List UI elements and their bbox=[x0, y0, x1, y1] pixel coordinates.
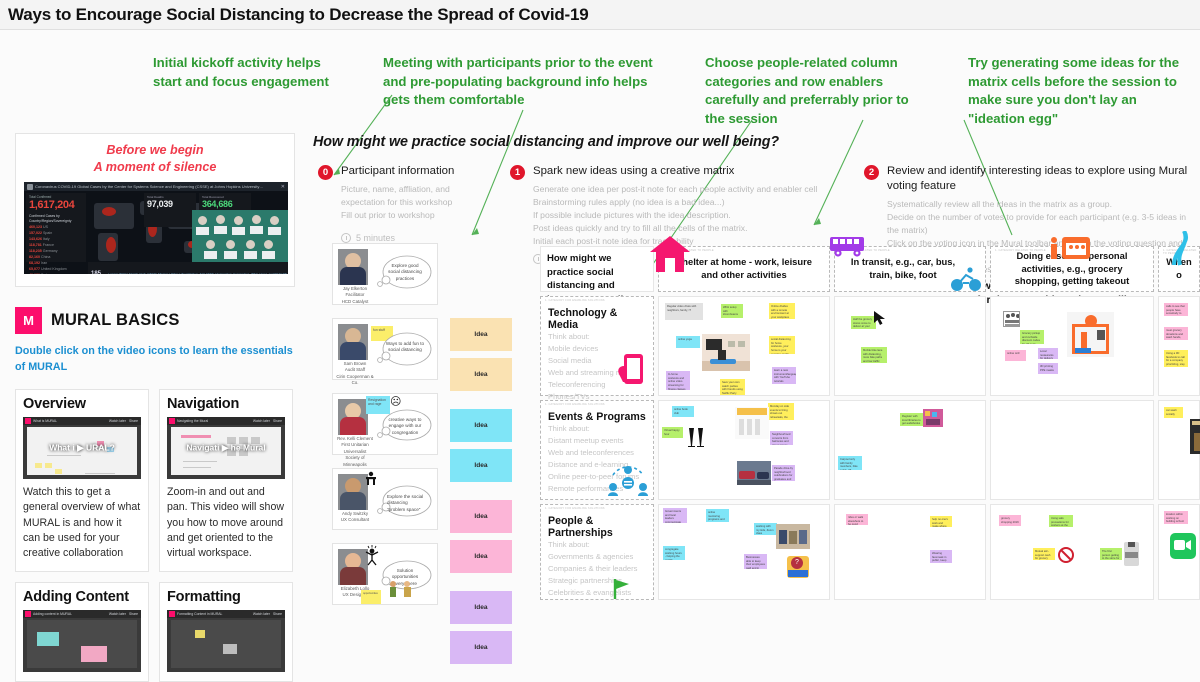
matrix-tiny-label: 1. CATEGORY FOR ENABLING SOLUTIONS bbox=[545, 403, 605, 406]
country-count: 143,626 bbox=[29, 237, 42, 241]
step-badge: 2 bbox=[864, 165, 879, 180]
dashboard-window-bar: Coronavirus COVID-19 Global Cases by the… bbox=[24, 182, 288, 191]
matrix-cell-0-2[interactable]: Grocery pickup and curbside discount cod… bbox=[990, 296, 1154, 396]
sticky-note[interactable]: Parade drive-by neighborhood celebration… bbox=[772, 465, 795, 481]
video-thumb-bar: What is MURAL Watch laterShare bbox=[23, 417, 141, 425]
country-count: 118,235 bbox=[29, 249, 42, 253]
ribbon-icon bbox=[1170, 231, 1200, 267]
country-count: 82,160 bbox=[29, 255, 40, 259]
creative-matrix: How might we practice social distancing … bbox=[540, 246, 1200, 600]
sticky-note[interactable]: online ordr bbox=[1005, 350, 1026, 361]
dashboard-footer: 185 Lancet: WHO | Florida | Italy | Midd… bbox=[88, 262, 288, 274]
video-card-title: Navigation bbox=[167, 396, 285, 412]
matrix-cell-2-3[interactable]: location within working on building scho… bbox=[1158, 504, 1200, 600]
mural-basics-subtitle: Double click on the video icons to learn… bbox=[15, 344, 295, 375]
matrix-row-header-0: 1. CATEGORY FOR ENABLING SOLUTIONS Techn… bbox=[540, 296, 654, 396]
sticky-note[interactable]: Using a 3D facebook to call for a compan… bbox=[1164, 350, 1188, 367]
country-name: China bbox=[41, 255, 50, 259]
mural-logo-icon bbox=[25, 418, 31, 424]
sticky-note[interactable]: Governments and local leaders communicat… bbox=[663, 508, 687, 523]
facetime-video-call-icon[interactable] bbox=[1170, 533, 1196, 559]
video-thumbnail[interactable]: Navigating the Mural Watch laterShare bbox=[167, 417, 285, 479]
share-label[interactable]: Share bbox=[129, 612, 138, 616]
sticky-note[interactable]: Using safe precautions for workers at th… bbox=[1049, 515, 1073, 527]
participant-org: Cirin Cooperman & Co. bbox=[335, 374, 375, 387]
store-icon bbox=[1046, 233, 1098, 263]
sticky-note[interactable]: online book club bbox=[672, 406, 694, 417]
sticky-note[interactable]: social distancing for home workouts, you… bbox=[769, 336, 795, 354]
community-sketch[interactable] bbox=[1003, 311, 1020, 327]
cursor-icon bbox=[873, 310, 887, 326]
video-thumb-canvas bbox=[171, 620, 281, 668]
case-counter: 185 bbox=[88, 271, 101, 274]
sticky-note[interactable]: online mentoring programs and tutoring, … bbox=[706, 509, 729, 522]
video-card-title: Overview bbox=[23, 396, 141, 412]
champagne-toast-icon bbox=[687, 426, 705, 448]
participant-card[interactable]: Andy Switzky UX Consultant Explore the s… bbox=[332, 468, 438, 530]
matrix-cell-1-0[interactable]: online book club Virtual happy hour Mond… bbox=[658, 400, 830, 500]
sticky-note[interactable]: working with my kids, Zoom class bbox=[754, 523, 777, 535]
video-thumbnail[interactable]: Formatting Content in MURAL Watch laterS… bbox=[167, 610, 285, 672]
matrix-row-think-label: Think about: bbox=[548, 423, 646, 435]
video-thumb-title: Adding content in MURAL bbox=[33, 612, 72, 616]
participant-photo bbox=[338, 399, 368, 435]
block-party-photo[interactable] bbox=[923, 409, 943, 427]
annotation-callout-1: Initial kickoff activity helps start and… bbox=[153, 54, 383, 91]
sticky-note[interactable]: Monday on side events to bring shows out… bbox=[768, 403, 794, 420]
idea-sticky[interactable]: Idea bbox=[450, 591, 512, 624]
participant-identity: Andy Switzky UX Consultant bbox=[335, 511, 375, 524]
country-name: France bbox=[43, 243, 54, 247]
step-heading: Review and identify interesting ideas to… bbox=[887, 164, 1200, 194]
accessibility-person-icon bbox=[364, 471, 378, 487]
matrix-row-title: Events & Programs bbox=[548, 411, 646, 423]
close-icon[interactable]: ✕ bbox=[281, 184, 288, 190]
video-thumb-bar: Navigating the Mural Watch laterShare bbox=[167, 417, 285, 425]
participant-card-list: Jay Elkerton Facilitator HCD Catalyst Ex… bbox=[332, 243, 438, 618]
sticky-note[interactable]: Carpool only with family members, bike s… bbox=[838, 456, 862, 470]
matrix-row-think-label: Think about: bbox=[548, 331, 646, 343]
matrix-row-think-label: Think about: bbox=[548, 539, 646, 551]
video-overlay-title: Navigati ▶ he Mural bbox=[167, 442, 285, 453]
mural-basics-title: MURAL BASICS bbox=[51, 311, 180, 330]
sticky-note[interactable]: Local restaurants for delivery only bbox=[1038, 348, 1058, 359]
country-name: Spain bbox=[43, 231, 52, 235]
video-thumb-title: What is MURAL bbox=[33, 419, 57, 423]
step-detail: Picture, name, affliation, and expectati… bbox=[341, 183, 498, 222]
sticky-note[interactable]: Virtual happy hour bbox=[662, 427, 683, 438]
country-name: US bbox=[43, 225, 48, 229]
silence-line-1: Before we begin bbox=[24, 142, 286, 159]
dashboard-footer-text: Lancet: WHO | Florida | Italy | Middle M… bbox=[88, 272, 287, 274]
video-thumbnail[interactable]: What is MURAL Watch laterShare What i ▶ bbox=[23, 417, 141, 479]
participant-identity: Jay Elkerton Facilitator HCD Catalyst bbox=[335, 286, 375, 305]
sticky-note[interactable]: help no one's work and make where can th… bbox=[930, 516, 952, 527]
share-label[interactable]: Share bbox=[273, 419, 282, 423]
video-card-overview[interactable]: Overview What is MURAL Watch laterShare bbox=[15, 389, 149, 572]
total-confirmed-value: 1,617,204 bbox=[26, 199, 86, 211]
matrix-cell-2-2[interactable]: grocery shopping 2019 Using safe precaut… bbox=[990, 504, 1154, 600]
matrix-tiny-label: 1. CATEGORY RELATED TO PEOPLE bbox=[995, 249, 1046, 252]
country-name: Iran bbox=[41, 261, 47, 265]
mural-basics-section: M MURAL BASICS Double click on the video… bbox=[15, 307, 295, 681]
sticky-note[interactable]: grocery shopping 2019 bbox=[999, 515, 1021, 526]
thought-text: Explore the social distancing "problem s… bbox=[387, 494, 427, 513]
matrix-row-title: Technology & Media bbox=[548, 307, 646, 331]
total-deaths-stat: Total Deaths 97,039 bbox=[144, 193, 196, 227]
house-icon bbox=[648, 234, 692, 274]
matrix-row-title: People & Partnerships bbox=[548, 515, 646, 539]
moment-of-silence-panel: Before we begin A moment of silence Coro… bbox=[15, 133, 295, 287]
sticky-note[interactable]: rides or walk elsewhere to be good bbox=[846, 514, 868, 525]
participant-card[interactable]: Elizabeth Lollo UX Designer opportunitie… bbox=[332, 543, 438, 605]
country-count: 65,077 bbox=[29, 267, 40, 271]
idea-sticky[interactable]: Idea bbox=[450, 449, 512, 482]
watch-later-label[interactable]: Watch later bbox=[109, 612, 126, 616]
step-heading: Spark new ideas using a creative matrix bbox=[533, 164, 860, 179]
total-recovered-value: 364,686 bbox=[199, 199, 251, 209]
clock-icon bbox=[341, 233, 351, 243]
left-sidebar: Before we begin A moment of silence Coro… bbox=[15, 133, 295, 682]
country-list-header: Confirmed Cases by Country/Region/Sovere… bbox=[26, 211, 86, 225]
matrix-row-header-1: 1. CATEGORY FOR ENABLING SOLUTIONS Event… bbox=[540, 400, 654, 500]
matrix-cell-0-3[interactable]: calls to see that people have somebody t… bbox=[1158, 296, 1200, 396]
video-card-title: Formatting bbox=[167, 589, 285, 605]
sticky-note[interactable]: car wash socially bbox=[1164, 407, 1183, 418]
participant-role: First Unitarian Universalist bbox=[335, 442, 375, 455]
video-thumb-title: Formatting Content in MURAL bbox=[177, 612, 222, 616]
sticky-note[interactable]: The first person getting to the store fo… bbox=[1100, 548, 1122, 560]
video-card-body: Watch this to get a general overview of … bbox=[23, 485, 141, 562]
page-title: Ways to Encourage Social Distancing to D… bbox=[0, 5, 589, 25]
thought-bubble: Explore the social distancing "problem s… bbox=[377, 475, 433, 523]
sticky-note[interactable]: Register with local libraries to get aud… bbox=[900, 413, 924, 426]
country-count: 42,282 bbox=[29, 273, 40, 274]
country-row: 42,282 Turkey bbox=[26, 273, 86, 274]
dashboard-left-panel: Total Confirmed 1,617,204 Confirmed Case… bbox=[26, 193, 86, 262]
participant-photo bbox=[338, 324, 368, 360]
country-name: Turkey bbox=[41, 273, 52, 274]
sticky-note[interactable]: Neighbourhood concerts from balconies an… bbox=[770, 431, 793, 445]
idea-sticky[interactable]: Idea bbox=[450, 318, 512, 351]
gladiator-movie-poster[interactable] bbox=[1190, 419, 1200, 454]
sticky-note[interactable]: In-home workouts and online video stream… bbox=[666, 371, 690, 390]
video-card-grid: Overview What is MURAL Watch laterShare bbox=[15, 389, 295, 682]
annotation-callout-3: Choose people-related column categories … bbox=[705, 54, 950, 129]
video-thumb-canvas bbox=[27, 620, 137, 668]
step-badge: 1 bbox=[510, 165, 525, 180]
idea-sticky[interactable]: Idea bbox=[450, 358, 512, 391]
participant-identity: Rev. Kelli Clement First Unitarian Unive… bbox=[335, 436, 375, 468]
sticky-note[interactable]: Wearing facemask in public, keep washing… bbox=[930, 550, 952, 563]
sticky-note[interactable]: WFH setup with Zoom/teams bbox=[721, 304, 743, 318]
video-card-navigation[interactable]: Navigation Navigating the Mural Watch la… bbox=[159, 389, 293, 572]
sticky-note[interactable]: congregate working hours - helping the m… bbox=[663, 546, 685, 560]
flag-icon bbox=[605, 577, 633, 600]
sticky-note[interactable]: Regular video chats with neighbors, fami… bbox=[665, 303, 703, 320]
window-titlebar: Ways to Encourage Social Distancing to D… bbox=[0, 0, 1200, 30]
participant-org: HCD Catalyst bbox=[335, 299, 375, 305]
no-contact-stamp-icon bbox=[1058, 547, 1074, 563]
country-count: 460,123 bbox=[29, 225, 42, 229]
annotation-callout-2: Meeting with participants prior to the e… bbox=[383, 54, 683, 110]
mobile-phone-icon bbox=[617, 352, 647, 392]
thought-text: Ways to add fun to social distancing bbox=[385, 341, 425, 354]
matrix-cell-2-1[interactable]: rides or walk elsewhere to be good help … bbox=[834, 504, 986, 600]
video-overlay-text: What i ▶ URAL? bbox=[49, 442, 115, 453]
matrix-tiny-label: 1. CATEGORY FOR ENABLING SOLUTIONS bbox=[545, 507, 605, 510]
3d-printer-photo[interactable] bbox=[1067, 312, 1114, 357]
thought-text: creative ways to engage with our congreg… bbox=[385, 417, 425, 436]
video-thumb-title: Navigating the Mural bbox=[177, 419, 208, 423]
sticky-note[interactable]: calls to see that people have somebody t… bbox=[1164, 303, 1188, 316]
matrix-column-title: In transit, e.g., car, bus, train, bike,… bbox=[843, 256, 963, 281]
sticky-note[interactable]: location within working on building scho… bbox=[1164, 511, 1188, 524]
sticky-note[interactable]: meet grocery donations and wash hands, s… bbox=[1164, 327, 1188, 340]
country-name: Italy bbox=[43, 237, 50, 241]
thought-bubble: Solution opportunities everywhere bbox=[377, 550, 433, 598]
participant-card[interactable]: Jay Elkerton Facilitator HCD Catalyst Ex… bbox=[332, 243, 438, 305]
car-parade-photo[interactable] bbox=[737, 461, 771, 485]
country-count: 118,781 bbox=[29, 243, 42, 247]
step-duration: 5 minutes bbox=[341, 233, 498, 243]
video-thumbnail[interactable]: Adding content in MURAL Watch laterShare bbox=[23, 610, 141, 672]
mural-logo-icon: M bbox=[15, 307, 42, 334]
country-name: United Kingdom bbox=[41, 267, 67, 271]
covid-dashboard-screenshot[interactable]: Coronavirus COVID-19 Global Cases by the… bbox=[24, 182, 288, 274]
matrix-corner-question: How might we practice social distancing … bbox=[540, 246, 654, 292]
video-thumb-bar: Adding content in MURAL Watch laterShare bbox=[23, 610, 141, 618]
thought-bubble: creative ways to engage with our congreg… bbox=[377, 400, 433, 448]
thought-bubble: Ways to add fun to social distancing bbox=[377, 325, 433, 373]
bus-icon bbox=[828, 235, 868, 259]
step-heading: Participant information bbox=[341, 164, 498, 179]
video-card-body: Zoom-in and out and pan. This video will… bbox=[167, 485, 285, 562]
share-label[interactable]: Share bbox=[273, 612, 282, 616]
matrix-cell-2-0[interactable]: Governments and local leaders communicat… bbox=[658, 504, 830, 600]
sticky-note[interactable]: learn a new instrument/language with You… bbox=[772, 367, 796, 384]
matrix-cell-1-3[interactable]: car wash socially bbox=[1158, 400, 1200, 500]
step-duration-text: 5 minutes bbox=[356, 233, 395, 243]
cyclist-icon bbox=[950, 266, 982, 292]
shield-icon bbox=[27, 184, 33, 190]
video-overlay-text: Navigati ▶ he Mural bbox=[186, 442, 265, 453]
idea-sticky[interactable]: Idea bbox=[450, 500, 512, 533]
step-detail: Generate one idea per post-it note for e… bbox=[533, 183, 860, 248]
video-thumb-bar: Formatting Content in MURAL Watch laterS… bbox=[167, 610, 285, 618]
participant-identity: Sam Brown Audit Staff Cirin Cooperman & … bbox=[335, 361, 375, 387]
sticky-note[interactable]: Mutual aid - support cash for grocery an… bbox=[1033, 548, 1055, 560]
silence-line-2: A moment of silence bbox=[24, 159, 286, 176]
mural-basics-header: M MURAL BASICS bbox=[15, 307, 295, 334]
country-name: Germany bbox=[43, 249, 58, 253]
sticky-note[interactable]: Grocery pickup and curbside discount cod… bbox=[1020, 330, 1044, 344]
country-count: 157,022 bbox=[29, 231, 42, 235]
matrix-cell-1-2[interactable] bbox=[990, 400, 1154, 500]
participant-card[interactable]: Sam Brown Audit Staff Cirin Cooperman & … bbox=[332, 318, 438, 380]
matrix-cell-0-1[interactable]: Half the grocery stores come to deliver … bbox=[834, 296, 986, 396]
thought-bubble: Explore good social distancing practices bbox=[377, 250, 433, 298]
country-count: 68,192 bbox=[29, 261, 40, 265]
sticky-note[interactable]: Businesses able to keep their employees … bbox=[744, 554, 767, 569]
thought-text: Explore good social distancing practices bbox=[385, 263, 425, 282]
step-0: 0 Participant information Picture, name,… bbox=[318, 164, 498, 243]
idea-sticky-column: Idea Idea Idea Idea Idea Idea Idea Idea bbox=[450, 318, 512, 671]
video-overlay-title: What i ▶ URAL? bbox=[23, 442, 141, 453]
annotation-callout-4: Try generating some ideas for the matrix… bbox=[968, 54, 1198, 129]
idea-sticky[interactable]: Idea bbox=[450, 540, 512, 573]
sanitizer-bottle-photo[interactable] bbox=[1124, 542, 1139, 566]
watch-later-label[interactable]: Watch later bbox=[109, 419, 126, 423]
home-workout-photo[interactable] bbox=[702, 334, 750, 371]
share-label[interactable]: Share bbox=[129, 419, 138, 423]
step-badge: 0 bbox=[318, 165, 333, 180]
matrix-tiny-label: 1. CATEGORY FOR ENABLING SOLUTIONS bbox=[545, 299, 605, 302]
idea-sticky[interactable]: Idea bbox=[450, 631, 512, 664]
dashboard-window-title: Coronavirus COVID-19 Global Cases by the… bbox=[35, 184, 263, 189]
sticky-note[interactable]: online yoga bbox=[676, 336, 700, 348]
participant-role: UX Consultant bbox=[335, 517, 375, 523]
video-card-formatting[interactable]: Formatting Formatting Content in MURAL W… bbox=[159, 582, 293, 682]
participant-photo bbox=[338, 249, 368, 285]
group-conference-icon bbox=[607, 465, 649, 497]
workshop-heading: How might we practice social distancing … bbox=[313, 134, 779, 150]
sticky-note[interactable]: have your own watch parties with friends… bbox=[720, 379, 745, 395]
mural-logo-icon bbox=[25, 611, 31, 617]
sticky-note[interactable]: Online divides with a remote environment… bbox=[769, 303, 795, 319]
watch-later-label[interactable]: Watch later bbox=[253, 419, 270, 423]
teacher-students-photo[interactable] bbox=[776, 524, 810, 549]
summer-concert-graphic[interactable] bbox=[735, 407, 769, 439]
watch-later-label[interactable]: Watch later bbox=[253, 612, 270, 616]
silence-heading: Before we begin A moment of silence bbox=[24, 142, 286, 175]
video-card-title: Adding Content bbox=[23, 589, 141, 605]
participant-card[interactable]: Rev. Kelli Clement First Unitarian Unive… bbox=[332, 393, 438, 455]
bingo-game-icon[interactable]: ? bbox=[787, 556, 809, 578]
idea-sticky[interactable]: Idea bbox=[450, 409, 512, 442]
matrix-cell-1-1[interactable]: Register with local libraries to get aud… bbox=[834, 400, 986, 500]
mural-logo-icon bbox=[169, 418, 175, 424]
video-card-adding-content[interactable]: Adding Content Adding content in MURAL W… bbox=[15, 582, 149, 682]
participant-org: Society of Minneapolis bbox=[335, 455, 375, 468]
sticky-note[interactable]: 3D printing PPE masks bbox=[1038, 363, 1058, 374]
mural-logo-icon bbox=[169, 611, 175, 617]
sticky-note[interactable]: Mobile bike lane with distancing, more b… bbox=[861, 347, 887, 363]
matrix-cell-0-0[interactable]: Regular video chats with neighbors, fami… bbox=[658, 296, 830, 396]
matrix-row-header-2: 1. CATEGORY FOR ENABLING SOLUTIONS Peopl… bbox=[540, 504, 654, 600]
total-deaths-value: 97,039 bbox=[144, 199, 196, 209]
